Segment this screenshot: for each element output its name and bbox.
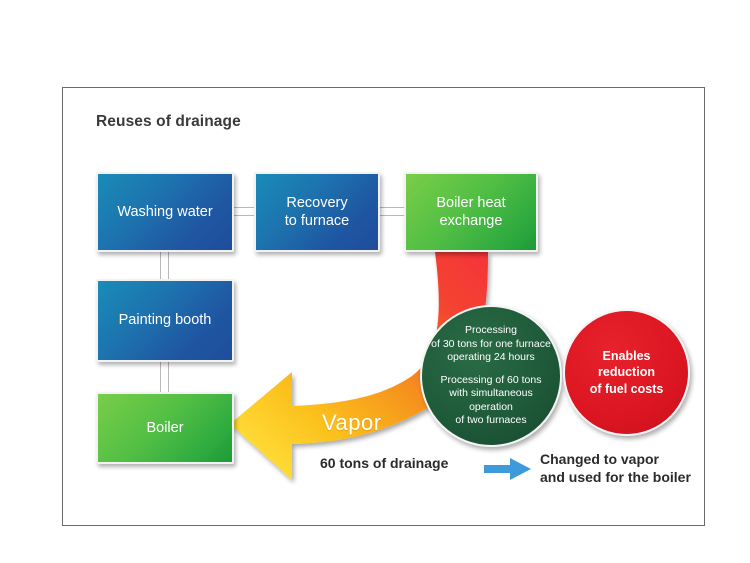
process-box-washing-water[interactable]: Washing water (96, 172, 234, 252)
box-label-painting-booth: Painting booth (115, 311, 216, 329)
annotation-source-label: 60 tons of drainage (320, 455, 448, 471)
callout-circle-fuel-cost[interactable]: Enables reduction of fuel costs (563, 309, 690, 436)
fuel-cost-line-2: of fuel costs (590, 382, 664, 396)
process-box-recovery-to-furnace[interactable]: Recovery to furnace (254, 172, 380, 252)
fuel-cost-line-1: Enables reduction (598, 349, 655, 379)
connector-washing-to-painting (160, 250, 169, 281)
processing-a-line-3: operating 24 hours (428, 351, 554, 364)
callout-circle-fuel-cost-text: Enables reduction of fuel costs (565, 348, 688, 397)
box-label-washing-water: Washing water (113, 203, 216, 221)
connector-painting-to-boiler (160, 360, 169, 394)
process-box-boiler[interactable]: Boiler (96, 392, 234, 464)
callout-circle-processing[interactable]: Processing of 30 tons for one furnace op… (420, 305, 562, 447)
processing-b-line-2: with simultaneous operation (428, 387, 554, 414)
annotation-result-label: Changed to vapor and used for the boiler (540, 450, 691, 486)
process-box-boiler-heat-exchange[interactable]: Boiler heat exchange (404, 172, 538, 252)
processing-a-line-1: Processing (428, 324, 554, 337)
box-label-line-2: exchange (440, 213, 503, 229)
box-label-line-1: Boiler heat (436, 195, 505, 211)
callout-circle-processing-text: Processing of 30 tons for one furnace op… (422, 324, 560, 427)
diagram-canvas: Reuses of drainage Vapor Washing water R… (0, 0, 750, 563)
processing-b-line-1: Processing of 60 tons (428, 374, 554, 387)
box-label-boiler: Boiler (142, 419, 187, 437)
annotation-result-line-1: Changed to vapor (540, 450, 691, 468)
text-gap (428, 365, 554, 374)
annotation-result-line-2: and used for the boiler (540, 468, 691, 486)
box-label-line-2: to furnace (285, 213, 350, 229)
processing-a-line-2: of 30 tons for one furnace (428, 338, 554, 351)
connector-washing-to-recovery (233, 207, 256, 216)
box-label-line-1: Recovery (286, 195, 347, 211)
connector-recovery-to-heat (379, 207, 406, 216)
vapor-arrow-label: Vapor (322, 410, 382, 436)
box-label-boiler-heat-exchange: Boiler heat exchange (432, 194, 509, 230)
process-box-painting-booth[interactable]: Painting booth (96, 279, 234, 362)
right-arrow-icon (484, 457, 532, 481)
processing-b-line-3: of two furnaces (428, 414, 554, 427)
page-title: Reuses of drainage (96, 113, 241, 131)
box-label-recovery-to-furnace: Recovery to furnace (281, 194, 354, 230)
